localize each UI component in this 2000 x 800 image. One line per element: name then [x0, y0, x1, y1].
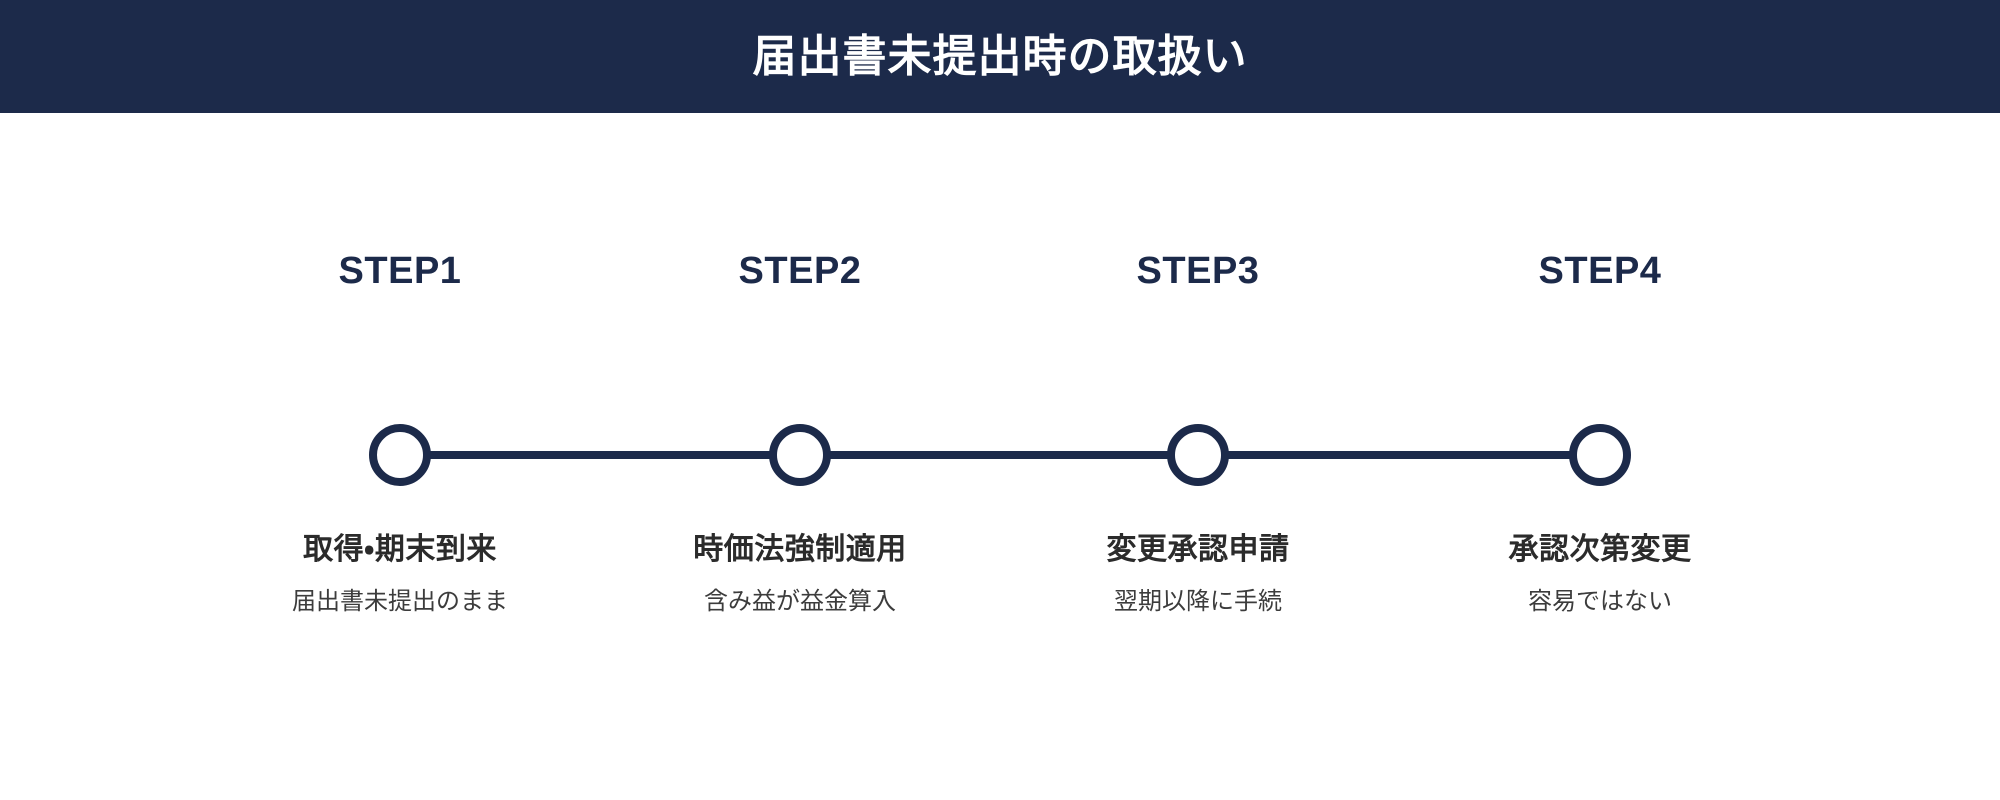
header-bar: 届出書未提出時の取扱い — [0, 0, 2000, 113]
step-number-1: STEP1 — [210, 252, 590, 290]
step-sublabel-3: 翌期以降に手続 — [1008, 588, 1388, 617]
timeline-step-4[interactable]: STEP4 承認次第変更 容易ではない — [1410, 113, 1790, 800]
step-sublabel-4: 容易ではない — [1410, 588, 1790, 617]
step-number-4: STEP4 — [1410, 252, 1790, 290]
timeline-step-2[interactable]: STEP2 時価法強制適用 含み益が益金算入 — [610, 113, 990, 800]
step-node-circle-icon-2 — [769, 424, 831, 486]
step-number-3: STEP3 — [1008, 252, 1388, 290]
step-number-2: STEP2 — [610, 252, 990, 290]
step-node-circle-icon-4 — [1569, 424, 1631, 486]
step-node-circle-icon-3 — [1167, 424, 1229, 486]
step-sublabel-1: 届出書未提出のまま — [210, 588, 590, 617]
timeline-step-3[interactable]: STEP3 変更承認申請 翌期以降に手続 — [1008, 113, 1388, 800]
diagram-canvas: STEP1 取得・期末到来 届出書未提出のまま STEP2 時価法強制適用 含み… — [0, 113, 2000, 800]
step-label-1: 取得・期末到来 — [210, 532, 590, 568]
step-label-2: 時価法強制適用 — [610, 532, 990, 568]
step-label-3: 変更承認申請 — [1008, 532, 1388, 568]
step-node-circle-icon-1 — [369, 424, 431, 486]
timeline: STEP1 取得・期末到来 届出書未提出のまま STEP2 時価法強制適用 含み… — [0, 113, 2000, 800]
page-title: 届出書未提出時の取扱い — [753, 35, 1248, 79]
timeline-step-1[interactable]: STEP1 取得・期末到来 届出書未提出のまま — [210, 113, 590, 800]
step-label-4: 承認次第変更 — [1410, 532, 1790, 568]
step-sublabel-2: 含み益が益金算入 — [610, 588, 990, 617]
